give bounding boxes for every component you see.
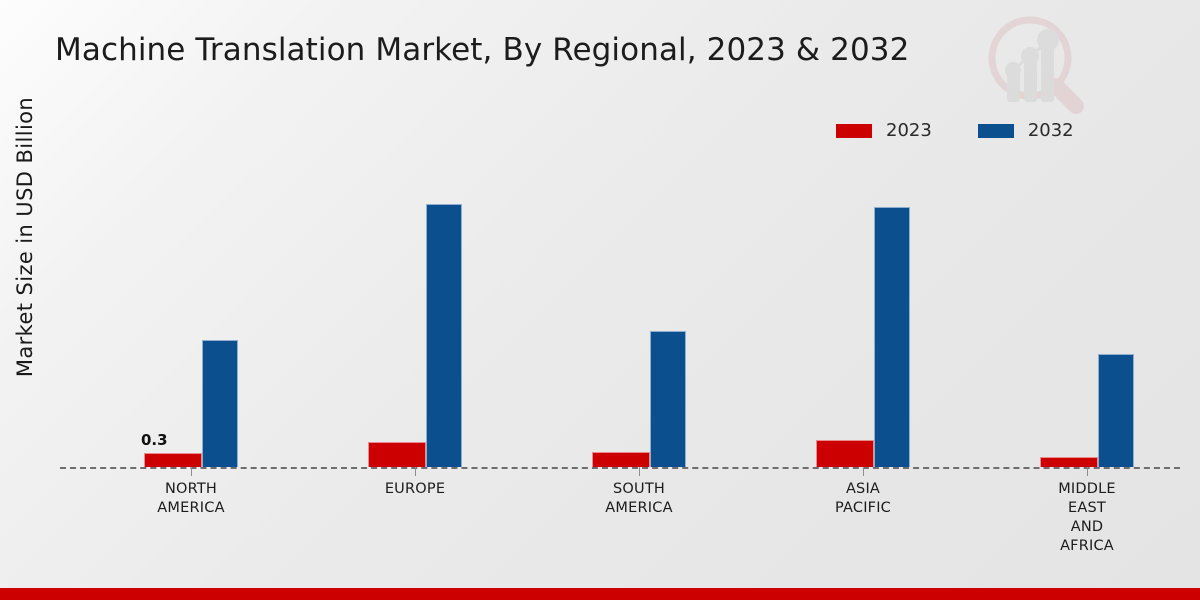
- x-axis-category-label: EUROPE: [330, 480, 500, 499]
- bar-group: EUROPE: [322, 150, 508, 467]
- bar-2032-3[interactable]: [874, 207, 910, 467]
- x-axis-baseline: [60, 467, 1180, 469]
- bar-2023-1[interactable]: [368, 442, 426, 467]
- bar-2023-3[interactable]: [816, 440, 874, 467]
- x-axis-tick: [639, 467, 640, 476]
- plot-area: 0.3NORTHAMERICAEUROPESOUTHAMERICAASIAPAC…: [60, 150, 1180, 467]
- bar-2032-4[interactable]: [1098, 354, 1134, 467]
- bottom-accent-bar: [0, 588, 1200, 600]
- bar-2032-1[interactable]: [426, 204, 462, 467]
- x-axis-tick: [415, 467, 416, 476]
- bar-pair: [322, 204, 508, 467]
- bar-2023-0[interactable]: [144, 453, 202, 467]
- bar-group: MIDDLEEASTANDAFRICA: [994, 150, 1180, 467]
- bar-group: 0.3NORTHAMERICA: [98, 150, 284, 467]
- legend-swatch-2032: [978, 124, 1014, 138]
- legend-item-2023[interactable]: 2023: [836, 120, 932, 141]
- x-axis-category-label: SOUTHAMERICA: [554, 480, 724, 518]
- bar-group: ASIAPACIFIC: [770, 150, 956, 467]
- legend-label-2032: 2032: [1028, 120, 1074, 141]
- legend-item-2032[interactable]: 2032: [978, 120, 1074, 141]
- legend-label-2023: 2023: [886, 120, 932, 141]
- bar-pair: [770, 207, 956, 467]
- chart-title: Machine Translation Market, By Regional,…: [55, 32, 909, 68]
- x-axis-category-label: MIDDLEEASTANDAFRICA: [1002, 480, 1172, 556]
- x-axis-tick: [863, 467, 864, 476]
- chart-legend: 2023 2032: [836, 120, 1074, 141]
- x-axis-category-label: NORTHAMERICA: [106, 480, 276, 518]
- bar-2032-0[interactable]: [202, 340, 238, 467]
- bar-pair: [994, 354, 1180, 467]
- x-axis-tick: [1087, 467, 1088, 476]
- bar-2023-4[interactable]: [1040, 457, 1098, 467]
- bar-2023-2[interactable]: [592, 452, 650, 467]
- bar-pair: [546, 331, 732, 467]
- legend-swatch-2023: [836, 124, 872, 138]
- x-axis-category-label: ASIAPACIFIC: [778, 480, 948, 518]
- chart-canvas: Machine Translation Market, By Regional,…: [0, 0, 1200, 600]
- watermark-logo-icon: [978, 8, 1096, 120]
- x-axis-tick: [191, 467, 192, 476]
- bar-pair: [98, 340, 284, 467]
- bar-group: SOUTHAMERICA: [546, 150, 732, 467]
- bar-2032-2[interactable]: [650, 331, 686, 467]
- y-axis-title: Market Size in USD Billion: [13, 72, 37, 402]
